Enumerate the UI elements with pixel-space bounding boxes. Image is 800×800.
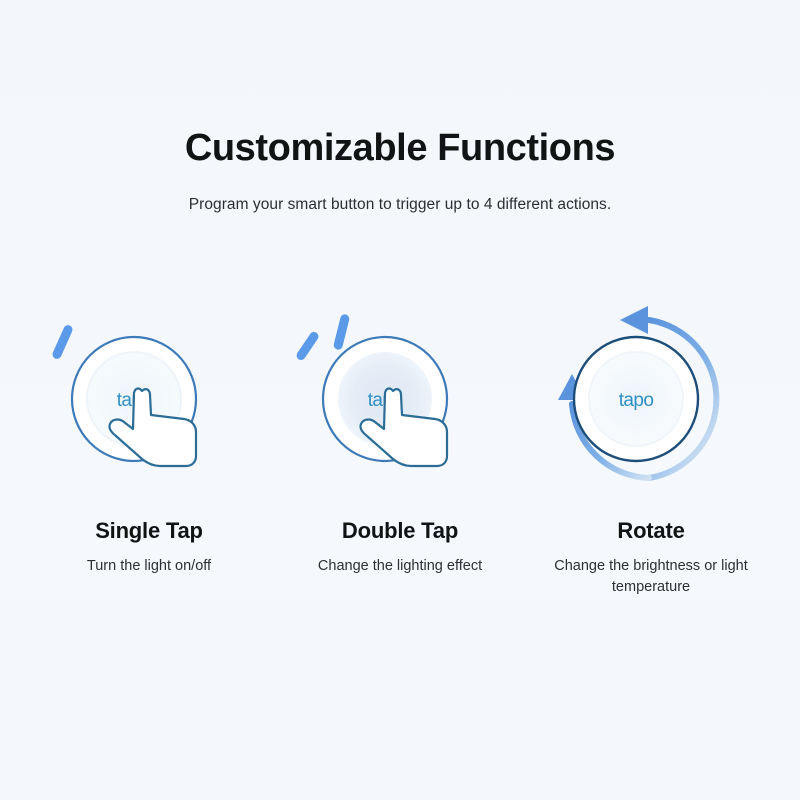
feature-title: Double Tap [342,518,458,544]
tapo-logo: tapo [619,390,654,411]
single-tap-illustration: tapo [34,296,264,506]
page-header: Customizable Functions Program your smar… [0,128,800,214]
feature-list: tapo Single Tap Turn the light on/off [0,296,800,598]
page-subtitle: Program your smart button to trigger up … [0,170,800,214]
feature-title: Rotate [617,518,684,544]
feature-description: Change the brightness or light temperatu… [546,556,756,598]
double-tap-illustration: tapo [285,296,515,506]
feature-description: Change the lighting effect [318,556,482,577]
feature-rotate[interactable]: tapo Rotate Change the brightness or lig… [526,296,776,598]
page-title: Customizable Functions [0,128,800,170]
feature-double-tap[interactable]: tapo Double Tap Change the lighting effe… [275,296,525,598]
promo-page: Customizable Functions Program your smar… [0,0,800,800]
svg-text:tapo: tapo [619,390,654,411]
tap-mark-icon [51,324,74,361]
feature-title: Single Tap [95,518,203,544]
feature-description: Turn the light on/off [87,556,211,577]
rotate-illustration: tapo [536,296,766,506]
feature-single-tap[interactable]: tapo Single Tap Turn the light on/off [24,296,274,598]
